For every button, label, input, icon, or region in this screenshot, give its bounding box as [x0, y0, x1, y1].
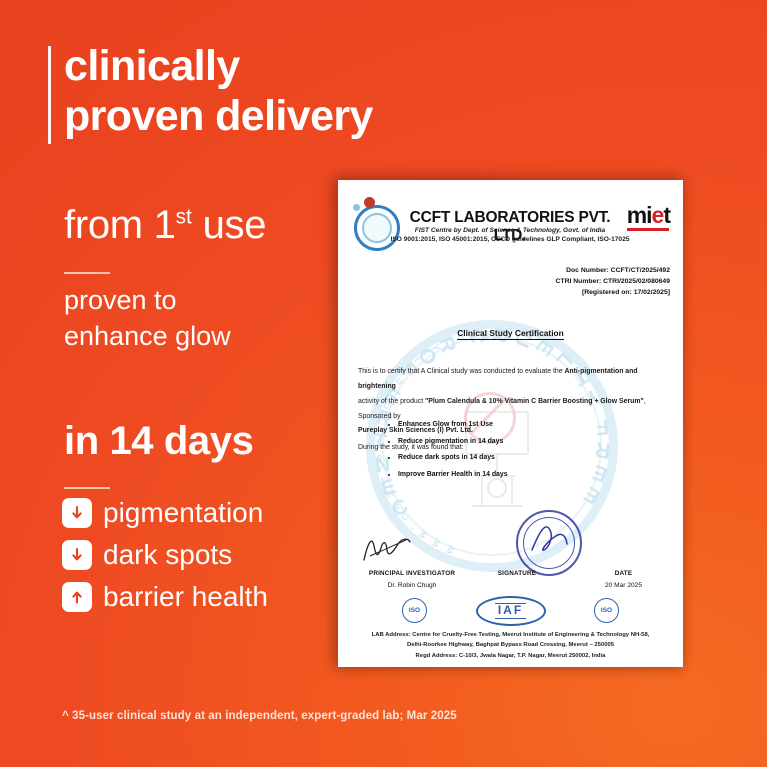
signature-column: SIGNATURE [462, 570, 572, 577]
date-value: 20 Mar 2025 [577, 582, 670, 589]
certificate-title: Clinical Study Certification [338, 328, 683, 338]
seal-emblem [364, 197, 375, 208]
address-line-3: Regd Address: C-10/3, Jwala Nagar, T.P. … [348, 651, 673, 661]
claim-1-title-pre: from 1 [64, 203, 176, 247]
ccft-seal-logo [354, 205, 400, 251]
arrow-down-icon [62, 498, 92, 528]
iaf-badge-label: IAF [495, 603, 526, 619]
list-item: Reduce pigmentation in 14 days [398, 438, 668, 445]
bullet-label: dark spots [103, 541, 232, 569]
iaf-badge: IAF [476, 596, 546, 626]
promo-poster: clinically proven delivery from 1st use … [0, 0, 767, 767]
investigator-signature-mark [360, 532, 414, 564]
arrow-down-icon [62, 540, 92, 570]
claim-1-title: from 1st use [64, 205, 266, 245]
lab-subtitle-2: ISO 9001:2015, ISO 45001:2015, OECD guid… [390, 236, 630, 243]
claim-2-bullet-list: pigmentation dark spots barrier health [62, 498, 372, 624]
miet-logo-underline [627, 228, 669, 231]
miet-logo: miet [627, 204, 670, 231]
findings-list: Enhances Glow from 1st Use Reduce pigmen… [382, 421, 668, 487]
body-p2-a: activity of the product [358, 398, 425, 405]
headline-line-2: proven delivery [64, 91, 484, 141]
page-title: clinically proven delivery [64, 41, 484, 142]
certificate-card: C E N T R E F O R C R U E L T Y F R E E [338, 180, 683, 667]
claim-1-divider [64, 272, 110, 274]
registered-on: [Registered on: 17/02/2025] [556, 287, 670, 298]
investigator-caption: PRINCIPAL INVESTIGATOR [352, 570, 472, 577]
body-p2-b: "Plum Calendula & 10% Vitamin C Barrier … [425, 398, 644, 405]
miet-logo-text-a: mi [627, 202, 652, 228]
claim-1-title-post: use [192, 203, 266, 247]
signature-caption: SIGNATURE [462, 570, 572, 577]
body-paragraph-1: This is to certify that A Clinical study… [358, 365, 663, 395]
list-item: Improve Barrier Health in 14 days [398, 471, 668, 478]
certificate-title-text: Clinical Study Certification [457, 328, 564, 340]
footnote: ^ 35-user clinical study at an independe… [62, 710, 457, 722]
claim-1-body: proven to enhance glow [64, 283, 364, 355]
investigator-column: PRINCIPAL INVESTIGATOR Dr. Robin Chugh [352, 570, 472, 589]
miet-logo-text-c: t [663, 202, 670, 228]
list-item: Enhances Glow from 1st Use [398, 421, 668, 428]
address-line-2: Delhi-Roorkee Highway, Baghpat Bypass Ro… [348, 640, 673, 650]
headline-accent-rule [48, 46, 51, 144]
headline-line-1: clinically [64, 42, 240, 90]
list-item: Reduce dark spots in 14 days [398, 454, 668, 461]
claim-1-body-line-1: proven to [64, 283, 364, 319]
arrow-up-icon [62, 582, 92, 612]
date-column: DATE 20 Mar 2025 [577, 570, 670, 589]
claim-2-title: in 14 days [64, 421, 253, 461]
list-item: dark spots [62, 540, 372, 570]
address-line-1: LAB Address: Centre for Cruelty-Free Tes… [348, 630, 673, 640]
claim-1-title-sup: st [176, 206, 192, 229]
list-item: pigmentation [62, 498, 372, 528]
list-item: barrier health [62, 582, 372, 612]
document-numbers: Doc Number: CCFT/CT/2025/492 CTRI Number… [556, 265, 670, 299]
investigator-name: Dr. Robin Chugh [352, 582, 472, 589]
signature-mark [526, 516, 572, 562]
bullet-label: barrier health [103, 583, 268, 611]
ctri-number: CTRI Number: CTRI/2025/02/080649 [556, 276, 670, 287]
iso-badge-left: ISO [402, 598, 427, 623]
doc-number: Doc Number: CCFT/CT/2025/492 [556, 265, 670, 276]
accreditation-badges: ISO IAF ISO [338, 596, 683, 626]
bullet-label: pigmentation [103, 499, 263, 527]
claim-2-divider [64, 487, 110, 489]
body-paragraph-2: activity of the product "Plum Calendula … [358, 395, 663, 425]
claim-1-body-line-2: enhance glow [64, 319, 364, 355]
iso-badge-right: ISO [594, 598, 619, 623]
lab-subtitle-1: FIST Centre by Dept. of Science & Techno… [400, 227, 620, 234]
date-caption: DATE [577, 570, 670, 577]
certificate-address: LAB Address: Centre for Cruelty-Free Tes… [348, 630, 673, 661]
body-p1-a: This is to certify that A Clinical study… [358, 368, 564, 375]
seal-emblem-secondary [353, 204, 360, 211]
miet-logo-text-b: e [652, 202, 664, 228]
